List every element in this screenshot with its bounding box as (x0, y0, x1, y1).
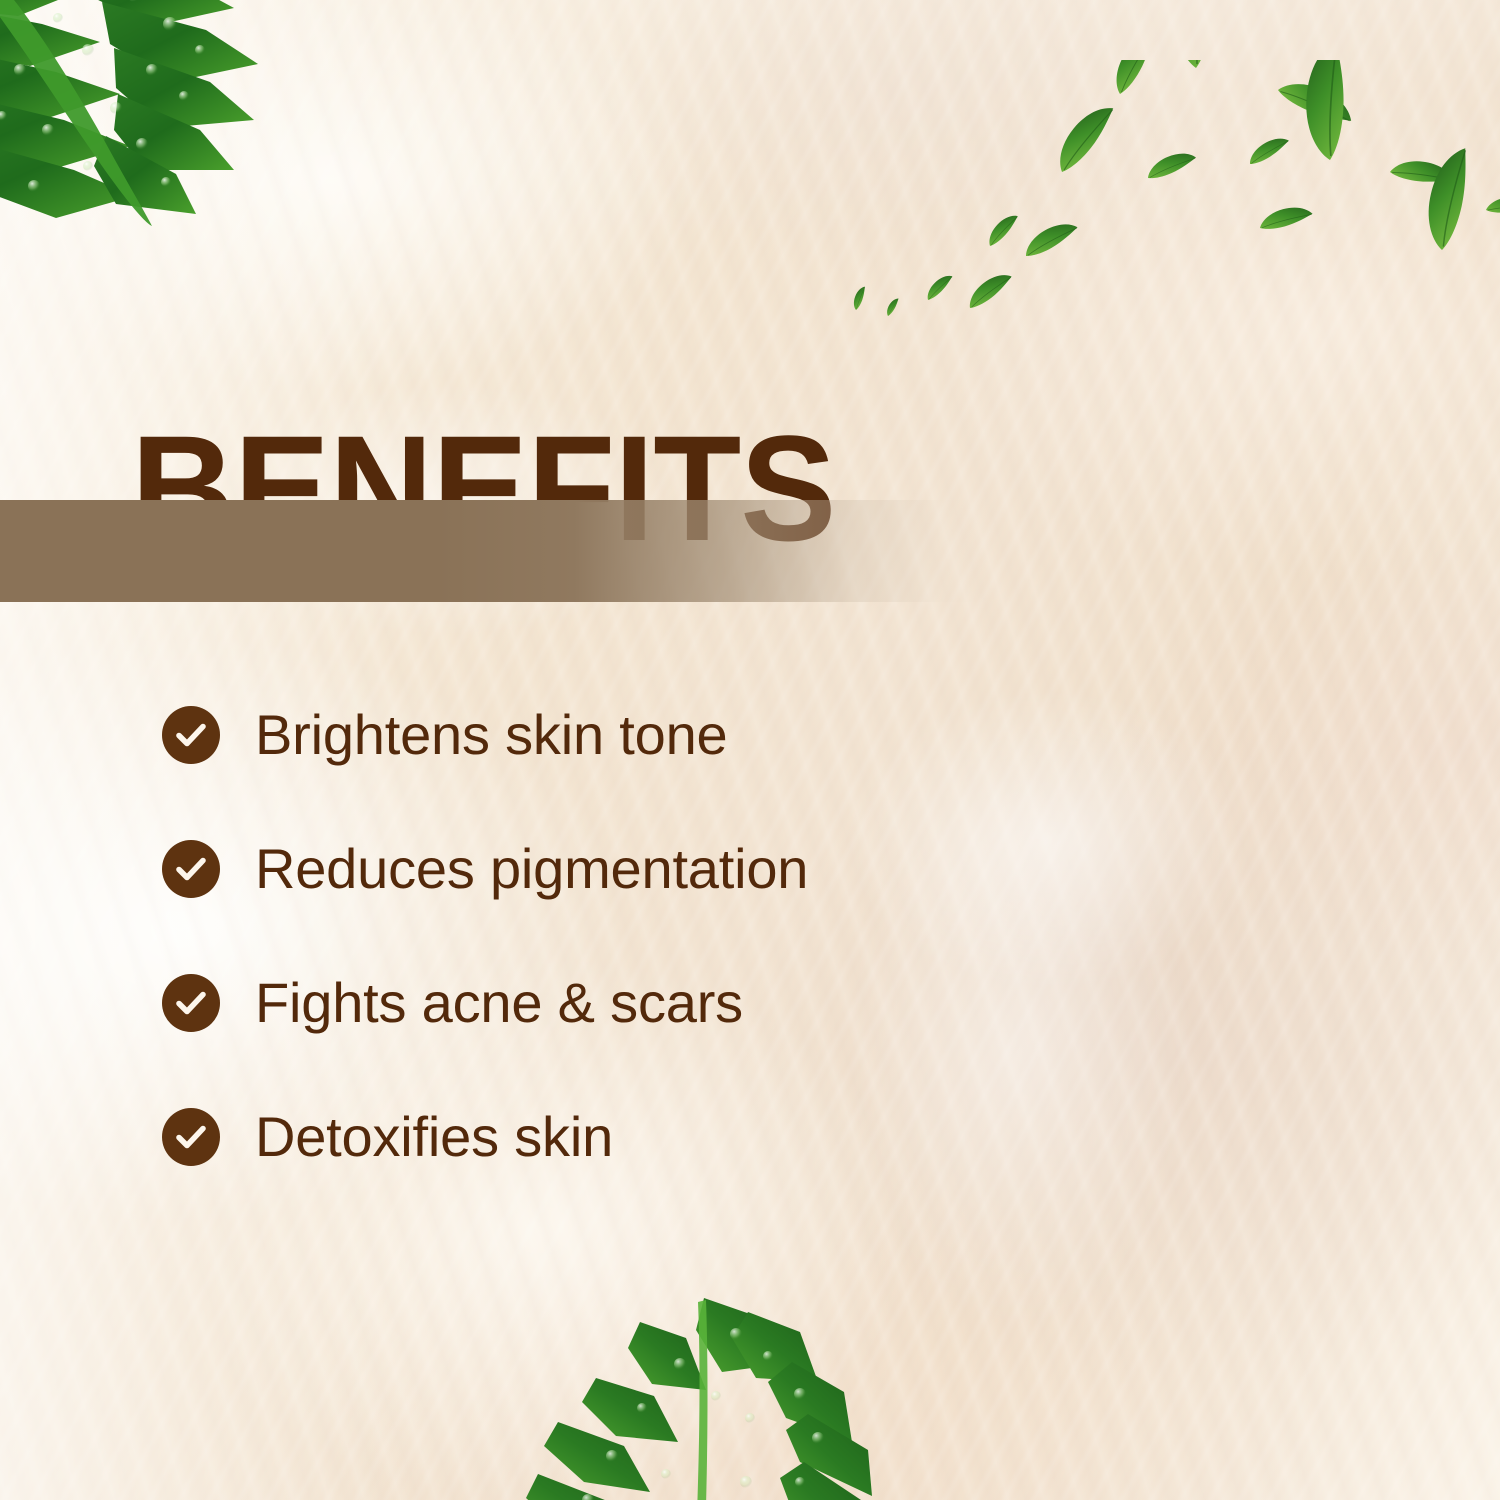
mint-leaf-icon (849, 285, 869, 311)
benefit-item-4: Detoxifies skin (162, 1108, 808, 1166)
monstera-leaf-icon (0, 0, 298, 290)
mint-leaf-icon (962, 270, 1016, 310)
mint-leaf-icon (1412, 142, 1484, 251)
mint-leaf-icon (982, 211, 1023, 247)
mint-leaf-icon (1144, 150, 1198, 180)
mint-leaf-icon (1486, 195, 1500, 215)
benefits-poster: BENEFITS Brightens skin tone Reduces pig… (0, 0, 1500, 1500)
mint-leaf-icon (1020, 219, 1082, 258)
benefit-item-3: Fights acne & scars (162, 974, 808, 1032)
mint-leaf-icon (883, 296, 901, 316)
benefits-list: Brightens skin tone Reduces pigmentation… (122, 706, 808, 1166)
mint-leaf-icon (1161, 60, 1229, 69)
list-item-label: Reduces pigmentation (255, 840, 808, 898)
divider-bar (0, 500, 990, 602)
mint-leaf-icon (922, 272, 956, 301)
list-item-label: Brightens skin tone (255, 706, 727, 764)
check-circle-icon (162, 840, 220, 898)
mint-leaf-icon (1294, 60, 1359, 161)
mint-leaf-icon (1103, 60, 1163, 96)
mint-leaf-icon (1258, 206, 1313, 230)
mint-leaf-icon (1045, 99, 1124, 174)
list-item-label: Fights acne & scars (255, 974, 743, 1032)
check-circle-icon (162, 974, 220, 1032)
monstera-leaf-icon (500, 1286, 920, 1500)
benefit-item-1: Brightens skin tone (162, 706, 808, 764)
check-circle-icon (162, 706, 220, 764)
benefit-item-2: Reduces pigmentation (162, 840, 808, 898)
check-circle-icon (162, 1108, 220, 1166)
mint-leaf-icon (1245, 134, 1292, 165)
floating-leaves-group (830, 60, 1500, 350)
list-item-label: Detoxifies skin (255, 1108, 613, 1166)
